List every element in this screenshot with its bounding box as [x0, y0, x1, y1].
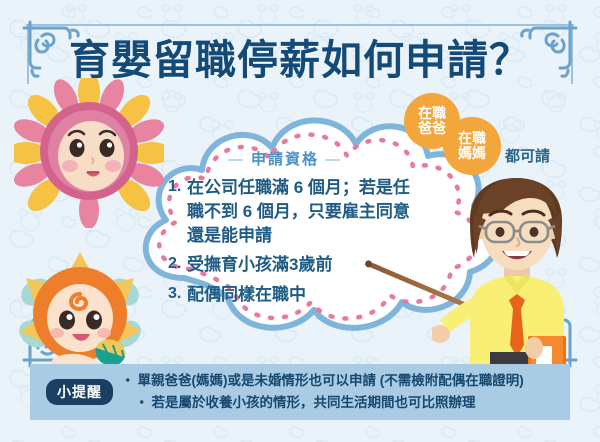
list-item-text: 配偶同樣在職中: [187, 283, 418, 307]
badge-dad-line2: 爸爸: [418, 121, 446, 136]
flower-costume-woman-illustration: [14, 78, 164, 228]
tip-bullet-1: ・: [121, 373, 135, 388]
tip-line-2: ・若是屬於收養小孩的情形，共同生活期間也可比照辦理: [121, 392, 570, 414]
qualification-heading: —申請資格—: [185, 148, 385, 169]
qualification-list: 1. 在公司任職滿 6 個月；若是任職不到 6 個月，只要雇主同意還是能申請 2…: [168, 176, 418, 312]
badge-mom-line1: 在職: [458, 131, 486, 146]
list-item: 1. 在公司任職滿 6 個月；若是任職不到 6 個月，只要雇主同意還是能申請: [168, 176, 418, 248]
list-item: 3. 配偶同樣在職中: [168, 283, 418, 307]
tip-line-1: ・單親爸爸(媽媽)或是未婚情形也可以申請 (不需檢附配偶在職證明): [121, 370, 570, 392]
heading-dash-right: —: [325, 151, 342, 168]
list-item-number: 1.: [168, 176, 187, 199]
tip-lines: ・單親爸爸(媽媽)或是未婚情形也可以申請 (不需檢附配偶在職證明) ・若是屬於收…: [121, 370, 570, 415]
page-title: 育嬰留職停薪如何申請？: [0, 26, 600, 86]
infographic-poster: 育嬰留職停薪如何申請？ —申請資格— 1. 在公司任職滿 6 個月；若是任職不到…: [0, 0, 600, 442]
list-item-text: 在公司任職滿 6 個月；若是任職不到 6 個月，只要雇主同意還是能申請: [187, 176, 418, 248]
heading-dash-left: —: [228, 151, 245, 168]
list-item-number: 3.: [168, 283, 187, 306]
badge-mom-line2: 媽媽: [458, 146, 486, 161]
list-item-number: 2.: [168, 253, 187, 276]
list-item-text: 受撫育小孩滿3歲前: [187, 253, 418, 277]
tip-text-2: 若是屬於收養小孩的情形，共同生活期間也可比照辦理: [152, 395, 476, 410]
badge-dad-line1: 在職: [418, 106, 446, 121]
tip-badge: 小提醒: [46, 379, 113, 405]
footer-tip-band: 小提醒 ・單親爸爸(媽媽)或是未婚情形也可以申請 (不需檢附配偶在職證明) ・若…: [30, 364, 570, 420]
all-eligible-label: 都可請: [505, 145, 550, 166]
tip-bullet-2: ・: [135, 395, 149, 410]
heading-text: 申請資格: [251, 151, 319, 168]
badge-working-mom: 在職 媽媽: [443, 117, 501, 175]
tip-text-1: 單親爸爸(媽媽)或是未婚情形也可以申請 (不需檢附配偶在職證明): [138, 373, 524, 388]
man-with-glasses-illustration: [432, 168, 600, 380]
